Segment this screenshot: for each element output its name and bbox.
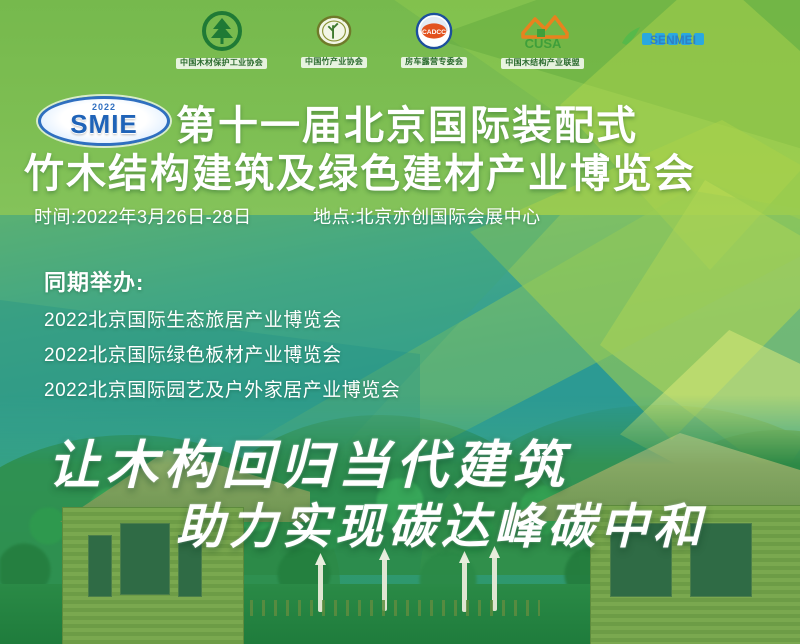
svg-text:CUSA: CUSA bbox=[524, 36, 561, 51]
exhibition-poster: 中国木材保护工业协会 中国竹产业协会 CADCC bbox=[0, 0, 800, 644]
event-date: 时间:2022年3月26日-28日 bbox=[34, 207, 252, 227]
svg-text:CADCC: CADCC bbox=[422, 29, 446, 36]
deck-railing bbox=[250, 600, 540, 616]
smie-logo: 2022 SMIE bbox=[38, 96, 170, 146]
sponsor-logo-2: 中国竹产业协会 bbox=[301, 12, 367, 68]
sponsor-logo-3: CADCC 房车露营专委会 bbox=[401, 12, 467, 68]
concurrent-event-item: 2022北京国际绿色板材产业博览会 bbox=[44, 340, 342, 367]
sponsor-name-3: 房车露营专委会 bbox=[401, 57, 467, 68]
svg-text:SENMEI: SENMEI bbox=[650, 33, 696, 47]
smie-acronym: SMIE bbox=[70, 109, 138, 140]
tree-shield-icon bbox=[202, 11, 242, 56]
smie-year: 2022 bbox=[92, 102, 116, 112]
cadcc-badge-icon: CADCC bbox=[415, 12, 453, 55]
concurrent-event-item: 2022北京国际生态旅居产业博览会 bbox=[44, 305, 342, 332]
sponsor-name-1: 中国木材保护工业协会 bbox=[176, 58, 267, 69]
poster-title-line-2: 竹木结构建筑及绿色建材产业博览会 bbox=[24, 141, 696, 199]
sponsor-logo-5: SENMEI bbox=[618, 21, 714, 60]
sponsor-logo-4: CUSA 中国木结构产业联盟 bbox=[501, 11, 584, 69]
concurrent-events-heading: 同期举办: bbox=[44, 265, 144, 297]
cusa-house-icon: CUSA bbox=[515, 11, 571, 56]
sponsor-name-2: 中国竹产业协会 bbox=[301, 57, 367, 68]
event-meta: 时间:2022年3月26日-28日 地点:北京亦创国际会展中心 bbox=[34, 203, 774, 229]
sponsor-name-4: 中国木结构产业联盟 bbox=[501, 58, 584, 69]
senmei-leaf-icon: SENMEI bbox=[618, 21, 714, 60]
cabin-window bbox=[120, 523, 170, 595]
slogan-line-2: 助力实现碳达峰碳中和 bbox=[176, 487, 706, 557]
sponsor-logo-strip: 中国木材保护工业协会 中国竹产业协会 CADCC bbox=[0, 0, 800, 80]
sponsor-logo-1: 中国木材保护工业协会 bbox=[176, 11, 267, 69]
event-venue: 地点:北京亦创国际会展中心 bbox=[313, 207, 541, 227]
concurrent-event-item: 2022北京国际园艺及户外家居产业博览会 bbox=[44, 375, 400, 402]
cabin-window bbox=[88, 535, 112, 597]
bamboo-seal-icon bbox=[315, 12, 353, 55]
